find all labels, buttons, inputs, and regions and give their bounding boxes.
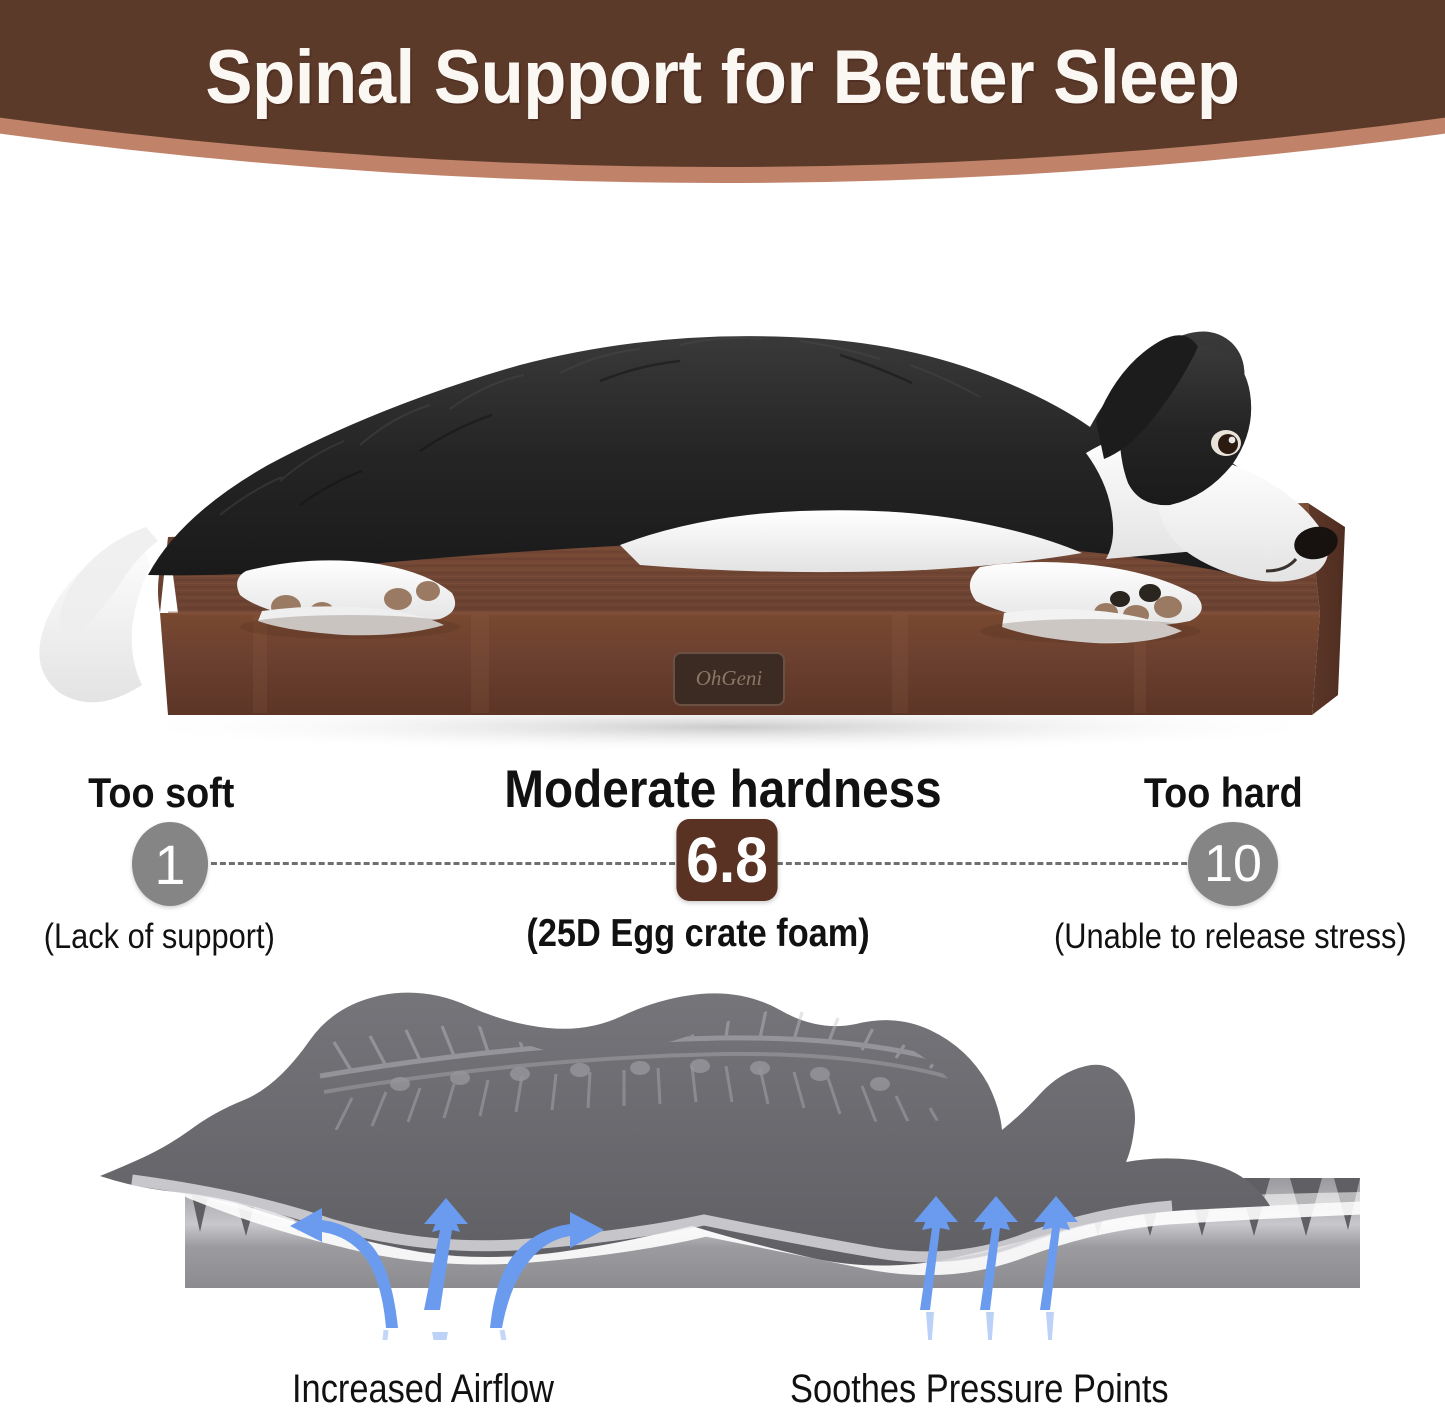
cross-section-diagram [0, 980, 1445, 1340]
scale-caption-hard: (Unable to release stress) [1054, 917, 1407, 957]
page-title: Spinal Support for Better Sleep [51, 34, 1395, 121]
caption-pressure: Soothes Pressure Points [790, 1367, 1169, 1412]
scale-node-min: 1 [132, 822, 208, 906]
product-photo: OhGeni [0, 215, 1445, 755]
dog-on-bed-illustration: OhGeni [0, 215, 1445, 755]
scale-caption-soft: (Lack of support) [44, 917, 275, 957]
scale-caption-moderate: (25D Egg crate foam) [526, 912, 869, 956]
scale-label-soft: Too soft [88, 769, 234, 817]
scale-node-max: 10 [1188, 822, 1278, 906]
scale-value-badge: 6.8 [676, 819, 777, 901]
scale-label-hard: Too hard [1144, 769, 1303, 817]
caption-airflow: Increased Airflow [292, 1367, 554, 1412]
brand-logo-tag: OhGeni [674, 653, 784, 705]
scale-label-moderate: Moderate hardness [504, 759, 941, 820]
svg-text:OhGeni: OhGeni [696, 666, 763, 690]
header-banner: Spinal Support for Better Sleep [0, 0, 1445, 215]
foam-cross-section [0, 980, 1445, 1340]
